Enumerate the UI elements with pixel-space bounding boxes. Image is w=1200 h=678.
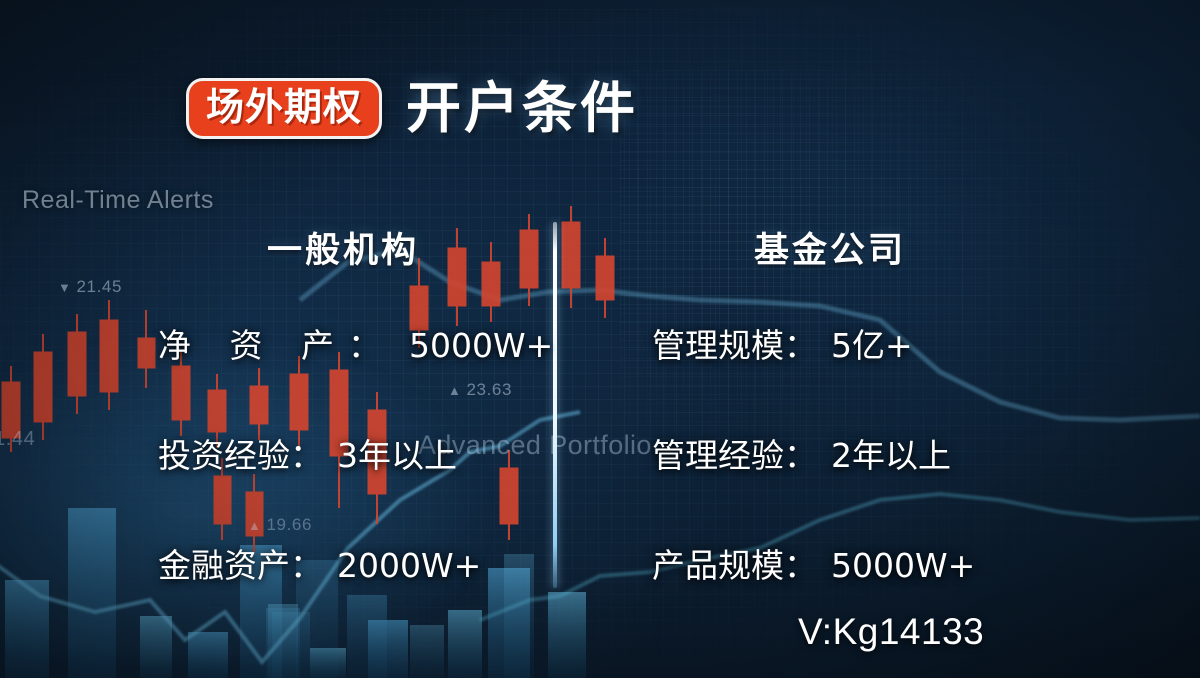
requirement-label: 产品规模： — [652, 539, 817, 587]
column-heading-fund-company: 基金公司 — [610, 222, 1080, 273]
page-header: 场外期权 开户条件 — [186, 78, 638, 139]
requirement-value: 5000W+ — [831, 546, 975, 585]
requirement-list-general-institution: 净 资 产： 5000W+ 投资经验： 3年以上 金融资产： 2000W+ — [120, 319, 550, 587]
background-quote-0: ▼21.45 — [58, 277, 122, 297]
requirement-row: 产品规模： 5000W+ — [610, 539, 1080, 587]
requirement-row: 投资经验： 3年以上 — [120, 429, 550, 477]
requirement-label: 投资经验： — [158, 429, 323, 477]
requirement-list-fund-company: 管理规模： 5亿+ 管理经验： 2年以上 产品规模： 5000W+ — [610, 319, 1080, 587]
slide-canvas: Real-Time Alerts Advanced Portfolio ▼21.… — [0, 0, 1200, 678]
requirement-label: 净 资 产： — [158, 319, 395, 367]
contact-watermark: V:Kg14133 — [798, 611, 984, 653]
requirement-row: 管理规模： 5亿+ — [610, 319, 1080, 367]
requirement-row: 金融资产： 2000W+ — [120, 539, 550, 587]
category-badge-label: 场外期权 — [206, 88, 362, 126]
requirement-label: 管理经验： — [652, 429, 817, 477]
category-badge: 场外期权 — [186, 78, 382, 139]
requirement-label: 金融资产： — [158, 539, 323, 587]
background-quote-3: 1.44 — [0, 428, 35, 451]
requirement-label: 管理规模： — [652, 319, 817, 367]
requirement-value: 3年以上 — [337, 429, 457, 477]
quote-arrow-down-icon: ▼ — [58, 280, 71, 295]
background-alerts-label: Real-Time Alerts — [22, 186, 214, 215]
requirement-row: 净 资 产： 5000W+ — [120, 319, 550, 367]
requirement-value: 2000W+ — [337, 546, 481, 585]
requirement-value: 5000W+ — [409, 326, 553, 365]
requirement-value: 5亿+ — [831, 319, 913, 367]
page-title: 开户条件 — [406, 81, 638, 136]
column-divider — [553, 222, 557, 588]
column-heading-general-institution: 一般机构 — [120, 222, 550, 273]
column-general-institution: 一般机构 净 资 产： 5000W+ 投资经验： 3年以上 金融资产： 2000… — [120, 222, 550, 587]
requirement-row: 管理经验： 2年以上 — [610, 429, 1080, 477]
quote-value: 21.45 — [76, 277, 122, 296]
quote-value: 1.44 — [0, 428, 35, 450]
requirement-value: 2年以上 — [831, 429, 951, 477]
column-fund-company: 基金公司 管理规模： 5亿+ 管理经验： 2年以上 产品规模： 5000W+ — [610, 222, 1080, 587]
